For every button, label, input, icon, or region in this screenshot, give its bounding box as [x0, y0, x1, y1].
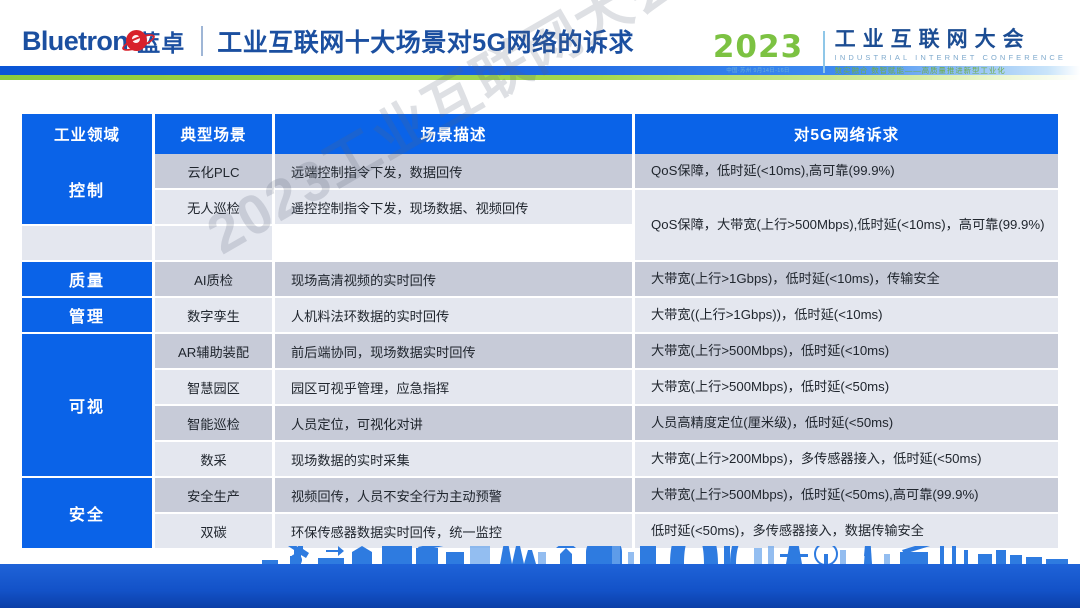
- scenarios-table-body: 控制 云化PLC 远端控制指令下发，数据回传 QoS保障，低时延(<10ms),…: [22, 154, 1058, 550]
- cell-scene: 数采: [155, 442, 275, 478]
- cell-req: 大带宽(上行>500Mbps)，低时延(<10ms): [635, 334, 1058, 370]
- cell-scene: 安全生产: [155, 478, 275, 514]
- cell-desc: 园区可视乎管理，应急指挥: [275, 370, 635, 406]
- cell-desc: 远端控制指令下发，数据回传: [275, 154, 635, 190]
- conference-logo: 2023 中国·苏州 9月14日-16日 工业互联网大会 INDUSTRIAL …: [713, 24, 1066, 80]
- column-header-desc: 场景描述: [275, 114, 635, 154]
- table-row: 无人巡检 遥控控制指令下发，现场数据、视频回传 QoS保障，大带宽(上行>500…: [22, 190, 1058, 226]
- cell-req: 大带宽((上行>1Gbps))，低时延(<10ms): [635, 298, 1058, 334]
- conference-name-block: 工业互联网大会 INDUSTRIAL INTERNET CONFERENCE 数…: [835, 28, 1066, 76]
- footer-ground-band: [0, 564, 1080, 608]
- column-header-domain: 工业领域: [22, 114, 155, 154]
- table-row: 管理 数字孪生 人机料法环数据的实时回传 大带宽((上行>1Gbps))，低时延…: [22, 298, 1058, 334]
- cell-scene: AR辅助装配: [155, 334, 275, 370]
- cell-scene: 云化PLC: [155, 154, 275, 190]
- table-row: 质量 AI质检 现场高清视频的实时回传 大带宽(上行>1Gbps)，低时延(<1…: [22, 262, 1058, 298]
- table-row: 数采 现场数据的实时采集 大带宽(上行>200Mbps)，多传感器接入，低时延(…: [22, 442, 1058, 478]
- table-header-row: 工业领域 典型场景 场景描述 对5G网络诉求: [22, 114, 1058, 154]
- cell-domain: 控制: [22, 154, 155, 226]
- cell-desc: 人机料法环数据的实时回传: [275, 298, 635, 334]
- conference-name-cn: 工业互联网大会: [835, 28, 1066, 51]
- cell-scene: 双碳: [155, 514, 275, 550]
- table-row: 智慧园区 园区可视乎管理，应急指挥 大带宽(上行>500Mbps)，低时延(<5…: [22, 370, 1058, 406]
- cell-domain: 可视: [22, 334, 155, 478]
- conference-slogan: 数实融合 数智赋能——高质量推进新型工业化: [835, 65, 1066, 76]
- cell-scene: 无人巡检: [155, 190, 275, 226]
- brand-divider: [201, 26, 203, 56]
- cell-desc-empty: [155, 226, 275, 262]
- scenarios-table: 工业领域 典型场景 场景描述 对5G网络诉求 控制 云化PLC 远端控制指令下发…: [22, 114, 1058, 550]
- table-row: 安全 安全生产 视频回传，人员不安全行为主动预警 大带宽(上行>500Mbps)…: [22, 478, 1058, 514]
- cell-domain: 安全: [22, 478, 155, 550]
- cell-req: 大带宽(上行>500Mbps)，低时延(<50ms),高可靠(99.9%): [635, 478, 1058, 514]
- cell-scene: 智慧园区: [155, 370, 275, 406]
- cell-req: QoS保障，大带宽(上行>500Mbps),低时延(<10ms)，高可靠(99.…: [635, 190, 1058, 262]
- table-row: 控制 云化PLC 远端控制指令下发，数据回传 QoS保障，低时延(<10ms),…: [22, 154, 1058, 190]
- table-row: 智能巡检 人员定位，可视化对讲 人员高精度定位(厘米级)，低时延(<50ms): [22, 406, 1058, 442]
- cell-scene: 数字孪生: [155, 298, 275, 334]
- page-footer: [0, 546, 1080, 608]
- brand-lockup: Bluetron 蓝卓 工业互联网十大场景对5G网络的诉求: [22, 24, 634, 58]
- cell-domain: 管理: [22, 298, 155, 334]
- conference-date: 中国·苏州 9月14日-16日: [713, 66, 803, 74]
- cell-req: 大带宽(上行>1Gbps)，低时延(<10ms)，传输安全: [635, 262, 1058, 298]
- table-row: 可视 AR辅助装配 前后端协同，现场数据实时回传 大带宽(上行>500Mbps)…: [22, 334, 1058, 370]
- cell-req: 大带宽(上行>500Mbps)，低时延(<50ms): [635, 370, 1058, 406]
- cell-scene: AI质检: [155, 262, 275, 298]
- cell-req: 人员高精度定位(厘米级)，低时延(<50ms): [635, 406, 1058, 442]
- cell-domain: 质量: [22, 262, 155, 298]
- page-title: 工业互联网十大场景对5G网络的诉求: [217, 23, 634, 59]
- planet-highlight-icon: [132, 35, 140, 43]
- planet-icon: [126, 30, 147, 51]
- cell-req: QoS保障，低时延(<10ms),高可靠(99.9%): [635, 154, 1058, 190]
- cell-desc: 现场高清视频的实时回传: [275, 262, 635, 298]
- bluetron-wordmark-text: Bluetron: [22, 26, 128, 56]
- cell-req: 低时延(<50ms)，多传感器接入，数据传输安全: [635, 514, 1058, 550]
- conference-name-en: INDUSTRIAL INTERNET CONFERENCE: [835, 53, 1066, 62]
- conference-year-block: 2023 中国·苏州 9月14日-16日: [713, 31, 813, 74]
- bluetron-wordmark: Bluetron: [22, 26, 128, 56]
- cell-scene-empty: [22, 226, 155, 262]
- scenarios-table-wrap: 工业领域 典型场景 场景描述 对5G网络诉求 控制 云化PLC 远端控制指令下发…: [22, 114, 1058, 550]
- conference-year: 2023: [713, 31, 803, 63]
- conference-divider: [823, 31, 825, 73]
- cell-scene: 智能巡检: [155, 406, 275, 442]
- cell-desc: 环保传感器数据实时回传，统一监控: [275, 514, 635, 550]
- cell-desc: 前后端协同，现场数据实时回传: [275, 334, 635, 370]
- cell-desc: 现场数据的实时采集: [275, 442, 635, 478]
- cell-desc: 人员定位，可视化对讲: [275, 406, 635, 442]
- page-header: Bluetron 蓝卓 工业互联网十大场景对5G网络的诉求 2023 中国·苏州…: [0, 0, 1080, 100]
- cell-desc: 视频回传，人员不安全行为主动预警: [275, 478, 635, 514]
- column-header-req: 对5G网络诉求: [635, 114, 1058, 154]
- column-header-scene: 典型场景: [155, 114, 275, 154]
- table-row: 双碳 环保传感器数据实时回传，统一监控 低时延(<50ms)，多传感器接入，数据…: [22, 514, 1058, 550]
- cell-req: 大带宽(上行>200Mbps)，多传感器接入，低时延(<50ms): [635, 442, 1058, 478]
- cell-desc: 遥控控制指令下发，现场数据、视频回传: [275, 190, 635, 226]
